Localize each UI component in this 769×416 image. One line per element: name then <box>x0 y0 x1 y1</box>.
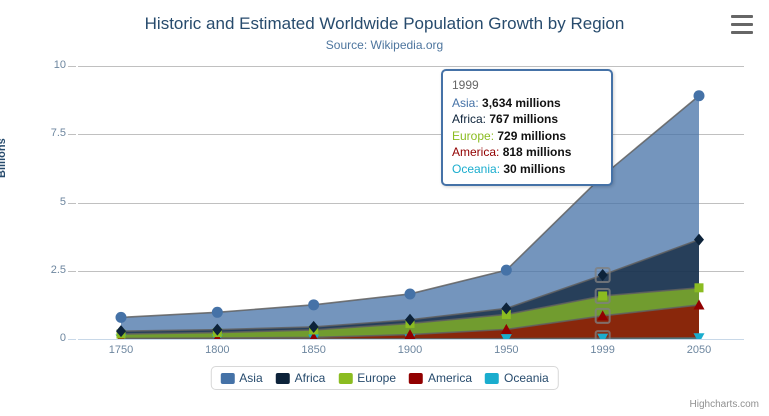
marker-america-1900 <box>405 329 416 339</box>
marker-asia-1850 <box>308 299 319 310</box>
x-axis-label: 1999 <box>568 344 638 356</box>
legend-label: America <box>428 371 472 385</box>
marker-oceania-1950 <box>501 334 512 339</box>
marker-america-2050 <box>694 299 705 309</box>
legend-item-africa[interactable]: Africa <box>276 371 326 385</box>
legend-item-america[interactable]: America <box>409 371 472 385</box>
marker-asia-2050 <box>694 90 705 101</box>
tooltip-series-name: Europe: <box>452 129 497 143</box>
tooltip-rows: Asia: 3,634 millionsAfrica: 767 millions… <box>452 95 602 178</box>
legend-item-europe[interactable]: Europe <box>338 371 396 385</box>
hamburger-bar-1 <box>731 15 753 18</box>
x-axis-label: 1850 <box>279 344 349 356</box>
y-axis-label: 0 <box>18 333 66 344</box>
marker-asia-1800 <box>212 307 223 318</box>
tooltip-row: America: 818 millions <box>452 144 602 161</box>
legend-swatch-europe-icon <box>338 373 352 384</box>
highcharts-container: Historic and Estimated Worldwide Populat… <box>0 0 769 416</box>
y-axis-tick <box>68 134 76 135</box>
tooltip-row: Oceania: 30 millions <box>452 161 602 178</box>
tooltip-header: 1999 <box>452 77 602 95</box>
x-axis-label: 1900 <box>375 344 445 356</box>
legend-swatch-asia-icon <box>220 373 234 384</box>
x-axis-label: 1800 <box>182 344 252 356</box>
y-axis-tick <box>68 271 76 272</box>
x-axis-label: 1750 <box>86 344 156 356</box>
legend[interactable]: AsiaAfricaEuropeAmericaOceania <box>210 366 558 390</box>
legend-label: Europe <box>357 371 396 385</box>
plot-area <box>78 66 744 339</box>
tooltip-series-name: Africa: <box>452 112 489 126</box>
y-axis-label: 2.5 <box>18 265 66 276</box>
marker-europe-2050 <box>695 283 704 292</box>
tooltip-series-value: 729 millions <box>497 129 566 143</box>
y-axis-label: 7.5 <box>18 128 66 139</box>
credits-label: Highcharts.com <box>690 399 759 410</box>
marker-america-1950 <box>501 324 512 334</box>
y-axis-title: Billions <box>0 138 8 178</box>
gridline <box>78 339 744 340</box>
tooltip-series-name: America: <box>452 145 503 159</box>
legend-swatch-africa-icon <box>276 373 290 384</box>
tooltip-row: Europe: 729 millions <box>452 128 602 145</box>
legend-swatch-america-icon <box>409 373 423 384</box>
chart-subtitle: Source: Wikipedia.org <box>0 38 769 52</box>
tooltip-series-value: 818 millions <box>503 145 572 159</box>
marker-africa-1999 <box>596 268 610 282</box>
legend-label: Oceania <box>504 371 549 385</box>
series-markers <box>78 66 744 339</box>
chart-title: Historic and Estimated Worldwide Populat… <box>0 14 769 34</box>
legend-item-oceania[interactable]: Oceania <box>485 371 549 385</box>
tooltip-series-name: Oceania: <box>452 162 503 176</box>
legend-item-asia[interactable]: Asia <box>220 371 262 385</box>
hamburger-bar-3 <box>731 31 753 34</box>
y-axis-label: 10 <box>18 60 66 71</box>
tooltip-series-name: Asia: <box>452 96 482 110</box>
tooltip: 1999 Asia: 3,634 millionsAfrica: 767 mil… <box>441 69 613 186</box>
y-axis-label: 5 <box>18 197 66 208</box>
hamburger-menu-icon[interactable] <box>731 15 755 37</box>
y-axis-tick <box>68 339 76 340</box>
marker-europe-1999 <box>596 289 610 303</box>
marker-africa-2050 <box>694 234 704 246</box>
hamburger-bar-2 <box>731 23 753 26</box>
tooltip-row: Africa: 767 millions <box>452 111 602 128</box>
y-axis-tick <box>68 66 76 67</box>
marker-oceania-2050 <box>694 333 705 339</box>
tooltip-series-value: 30 millions <box>503 162 565 176</box>
marker-asia-1950 <box>501 265 512 276</box>
marker-asia-1750 <box>116 312 127 323</box>
marker-asia-1900 <box>405 288 416 299</box>
legend-label: Asia <box>239 371 262 385</box>
tooltip-row: Asia: 3,634 millions <box>452 95 602 112</box>
legend-swatch-oceania-icon <box>485 373 499 384</box>
marker-oceania-1999 <box>596 331 610 339</box>
legend-label: Africa <box>295 371 326 385</box>
tooltip-series-value: 3,634 millions <box>482 96 561 110</box>
y-axis-tick <box>68 203 76 204</box>
x-axis-label: 1950 <box>471 344 541 356</box>
tooltip-series-value: 767 millions <box>489 112 558 126</box>
x-axis-label: 2050 <box>664 344 734 356</box>
marker-america-1999 <box>596 309 610 323</box>
